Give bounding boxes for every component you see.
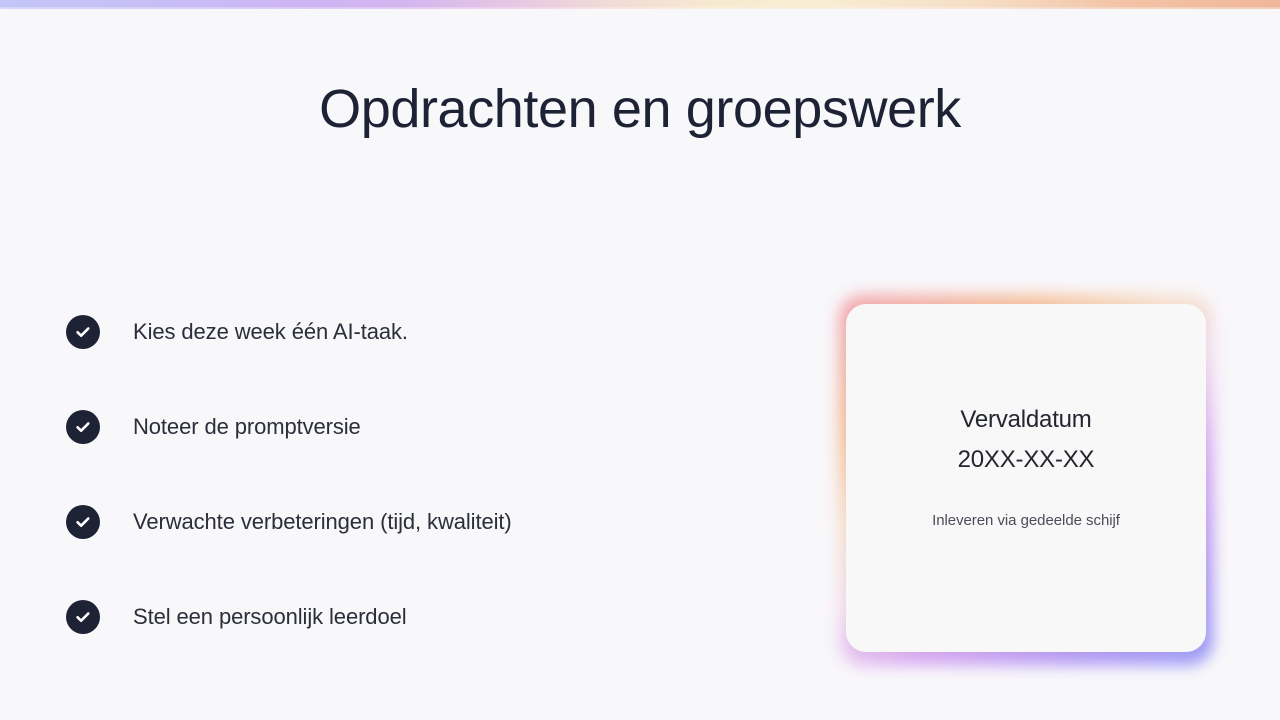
- top-gradient-bar-fade: [0, 7, 1280, 17]
- card-title: Vervaldatum: [960, 400, 1091, 440]
- list-item-label: Stel een persoonlijk leerdoel: [133, 598, 407, 636]
- due-date-card: Vervaldatum 20XX-XX-XX Inleveren via ged…: [838, 294, 1214, 666]
- list-item: Kies deze week één AI-taak.: [66, 313, 766, 408]
- page-title: Opdrachten en groepswerk: [0, 78, 1280, 142]
- list-item: Noteer de promptversie: [66, 408, 766, 503]
- check-circle-icon: [66, 600, 100, 634]
- list-item: Stel een persoonlijk leerdoel: [66, 598, 766, 693]
- checklist: Kies deze week één AI-taak. Noteer de pr…: [66, 313, 766, 693]
- check-circle-icon: [66, 315, 100, 349]
- card-surface: Vervaldatum 20XX-XX-XX Inleveren via ged…: [846, 304, 1206, 652]
- check-circle-icon: [66, 505, 100, 539]
- list-item-label: Kies deze week één AI-taak.: [133, 313, 408, 351]
- list-item: Verwachte verbeteringen (tijd, kwaliteit…: [66, 503, 766, 598]
- slide-root: Opdrachten en groepswerk Kies deze week …: [0, 0, 1280, 720]
- list-item-label: Noteer de promptversie: [133, 408, 361, 446]
- card-note: Inleveren via gedeelde schijf: [932, 512, 1120, 529]
- card-date-value: 20XX-XX-XX: [958, 440, 1095, 480]
- check-circle-icon: [66, 410, 100, 444]
- list-item-label: Verwachte verbeteringen (tijd, kwaliteit…: [133, 503, 512, 541]
